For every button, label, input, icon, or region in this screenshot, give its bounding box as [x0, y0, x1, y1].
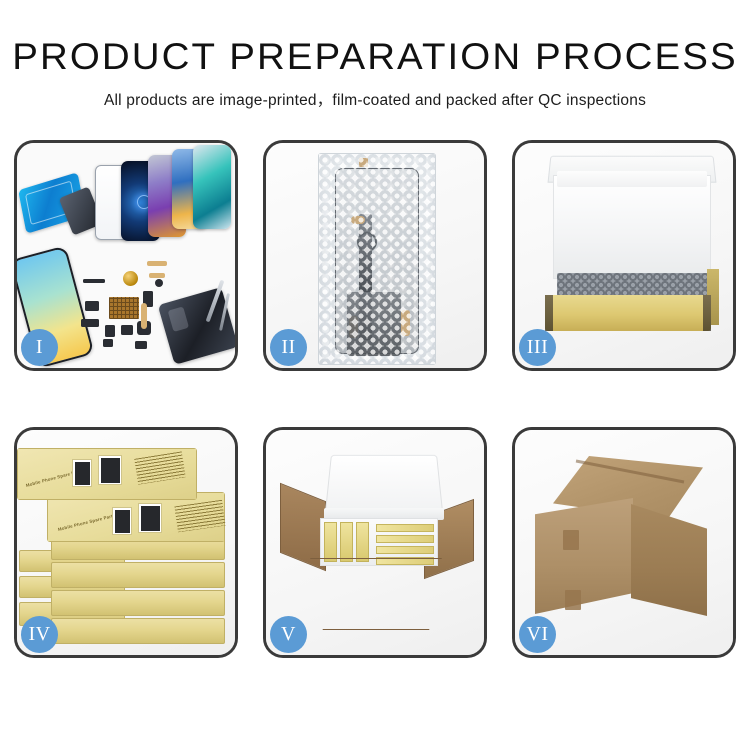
carton-tape-upper [563, 530, 579, 550]
speaker-component-icon [123, 271, 138, 286]
flex-cable-3 [141, 303, 147, 329]
box-foam-back-panel [553, 175, 711, 279]
step-panel-4[interactable]: Mobile Phone Spare Parts Mobile Phone Sp… [14, 427, 238, 658]
packed-box-6 [376, 546, 434, 554]
header: PRODUCT PREPARATION PROCESS All products… [0, 0, 750, 110]
bubble-film-overlay [319, 154, 435, 364]
packed-box-1 [324, 522, 337, 562]
stack-slab-r4 [51, 618, 225, 644]
flex-cable-1 [147, 261, 167, 266]
process-steps-grid: I II [14, 140, 736, 685]
kraft-box-front [545, 295, 711, 331]
part-block-4 [121, 325, 133, 335]
packed-box-3 [356, 522, 369, 562]
styrofoam-lid [325, 455, 444, 515]
step-panel-3[interactable]: III [512, 140, 736, 371]
part-strip-1 [83, 279, 105, 283]
carton-right-face [631, 504, 707, 616]
carton-left-face [535, 498, 633, 614]
packed-box-4 [376, 524, 434, 532]
box-thumb-front-1 [112, 507, 132, 535]
phone-screen-teal [193, 145, 231, 229]
sealed-carton [535, 456, 721, 626]
bubble-wrap-bag [318, 153, 436, 365]
product-preparation-infographic: PRODUCT PREPARATION PROCESS All products… [0, 0, 750, 750]
step-badge-3: III [519, 329, 556, 366]
carton-body [306, 558, 446, 630]
step-panel-1[interactable]: I [14, 140, 238, 371]
step-badge-2: II [270, 329, 307, 366]
page-title: PRODUCT PREPARATION PROCESS [0, 38, 750, 75]
packed-box-5 [376, 535, 434, 543]
part-block-2 [81, 319, 99, 327]
step-panel-2[interactable]: II [263, 140, 487, 371]
flex-cable-2 [149, 273, 165, 278]
box-thumb-top-1 [72, 459, 92, 487]
step-panel-5[interactable]: V [263, 427, 487, 658]
step-badge-6: VI [519, 616, 556, 653]
part-block-6 [103, 339, 113, 347]
step-badge-1: I [21, 329, 58, 366]
retail-box-top: Mobile Phone Spare Parts [17, 448, 197, 500]
carton-tape-lower [565, 590, 581, 610]
part-block-3 [105, 325, 115, 337]
stack-slab-r2 [51, 562, 225, 588]
step-badge-5: V [270, 616, 307, 653]
part-screw [155, 279, 163, 287]
step-panel-6[interactable]: VI [512, 427, 736, 658]
box-thumb-top-2 [98, 455, 122, 485]
packed-box-2 [340, 522, 353, 562]
phone-back-cover [158, 287, 235, 365]
step-badge-4: IV [21, 616, 58, 653]
box-foam-top-edge [557, 171, 707, 187]
page-subtitle: All products are image-printed，film-coat… [0, 88, 750, 110]
stack-slab-r3 [51, 590, 225, 616]
part-block-1 [85, 301, 99, 311]
logic-board-component [109, 297, 139, 319]
part-block-7 [135, 341, 147, 349]
box-thumb-front-2 [138, 503, 162, 533]
